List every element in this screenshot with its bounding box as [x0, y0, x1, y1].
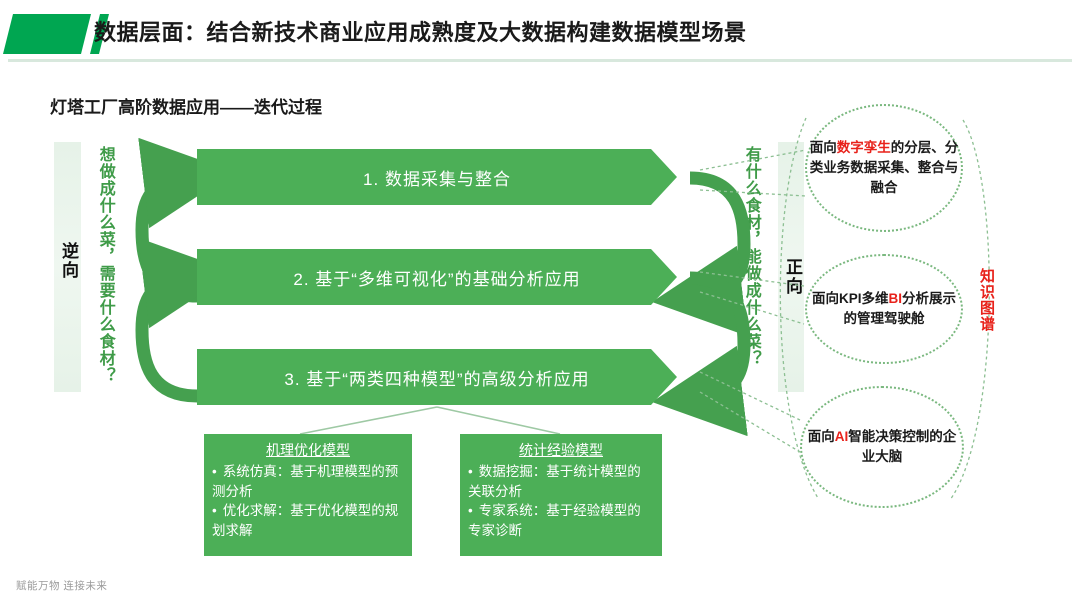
page-title: 数据层面：结合新技术商业应用成熟度及大数据构建数据模型场景: [94, 12, 747, 54]
detail-box-left-item-1: •系统仿真：基于机理模型的预测分析: [212, 462, 404, 501]
knowledge-graph-label: 知识图谱: [976, 268, 997, 332]
arrow-right-upper: [690, 178, 744, 296]
callout-bi-dashboard[interactable]: 面向KPI多维BI分析展示的管理驾驶舱: [805, 254, 963, 364]
arrow-left-upper: [142, 178, 197, 296]
flow-step-2-label: 2. 基于“多维可视化”的基础分析应用: [293, 265, 580, 290]
callout-ai-brain[interactable]: 面向AI智能决策控制的企业大脑: [800, 386, 964, 508]
detail-box-statistical-model[interactable]: 统计经验模型 •数据挖掘：基于统计模型的关联分析 •专家系统：基于经验模型的专家…: [460, 434, 662, 556]
callout-digital-twin-text: 面向数字孪生的分层、分类业务数据采集、整合与融合: [807, 138, 961, 199]
flow-step-1-label: 1. 数据采集与整合: [363, 165, 511, 190]
callout-1-prefix: 面向: [810, 140, 837, 155]
bullet-icon: •: [468, 464, 473, 479]
section-subtitle: 灯塔工厂高阶数据应用——迭代过程: [50, 93, 322, 118]
detail-box-right-item-1-text: 数据挖掘：基于统计模型的关联分析: [468, 464, 641, 499]
detail-box-right-item-2-text: 专家系统：基于经验模型的专家诊断: [468, 503, 641, 538]
detail-box-left-title: 机理优化模型: [212, 440, 404, 460]
detail-box-mechanism-model[interactable]: 机理优化模型 •系统仿真：基于机理模型的预测分析 •优化求解：基于优化模型的规划…: [204, 434, 412, 556]
connector-to-left-box: [300, 407, 437, 434]
bullet-icon: •: [468, 503, 473, 518]
callout-3-highlight: AI: [835, 429, 849, 444]
callout-digital-twin[interactable]: 面向数字孪生的分层、分类业务数据采集、整合与融合: [805, 104, 963, 232]
flow-step-3-label: 3. 基于“两类四种模型”的高级分析应用: [284, 365, 589, 390]
detail-box-right-item-2: •专家系统：基于经验模型的专家诊断: [468, 501, 654, 540]
connector-to-right-box: [437, 407, 560, 434]
direction-label-reverse: 逆向: [55, 242, 81, 280]
callout-2-highlight: BI: [889, 291, 903, 306]
bullet-icon: •: [212, 503, 217, 518]
flow-step-3[interactable]: 3. 基于“两类四种模型”的高级分析应用: [197, 349, 677, 405]
callout-3-prefix: 面向: [808, 429, 835, 444]
vertical-question-right: 有什么食材，能做成什么菜？: [742, 146, 759, 408]
header-accent-parallelogram: [3, 14, 91, 54]
header-divider: [8, 59, 1072, 62]
detail-box-right-item-1: •数据挖掘：基于统计模型的关联分析: [468, 462, 654, 501]
arrow-left-lower: [142, 278, 197, 396]
page-header: 数据层面：结合新技术商业应用成熟度及大数据构建数据模型场景: [0, 0, 1080, 62]
arrow-right-lower: [690, 278, 744, 396]
detail-box-right-title: 统计经验模型: [468, 440, 654, 460]
callout-1-highlight: 数字孪生: [837, 140, 891, 155]
flow-step-1[interactable]: 1. 数据采集与整合: [197, 149, 677, 205]
detail-box-left-item-2: •优化求解：基于优化模型的规划求解: [212, 501, 404, 540]
callout-3-suffix: 智能决策控制的企业大脑: [848, 429, 956, 464]
flow-step-2[interactable]: 2. 基于“多维可视化”的基础分析应用: [197, 249, 677, 305]
vertical-question-left: 想做成什么菜，需要什么食材？: [96, 146, 113, 408]
bullet-icon: •: [212, 464, 217, 479]
detail-box-left-item-2-text: 优化求解：基于优化模型的规划求解: [212, 503, 398, 538]
detail-box-left-item-1-text: 系统仿真：基于机理模型的预测分析: [212, 464, 398, 499]
direction-label-forward: 正向: [779, 258, 805, 296]
callout-bi-dashboard-text: 面向KPI多维BI分析展示的管理驾驶舱: [807, 289, 961, 330]
callout-ai-brain-text: 面向AI智能决策控制的企业大脑: [802, 427, 962, 468]
footer-slogan: 赋能万物 连接未来: [16, 578, 107, 593]
callout-2-prefix: 面向KPI多维: [812, 291, 889, 306]
